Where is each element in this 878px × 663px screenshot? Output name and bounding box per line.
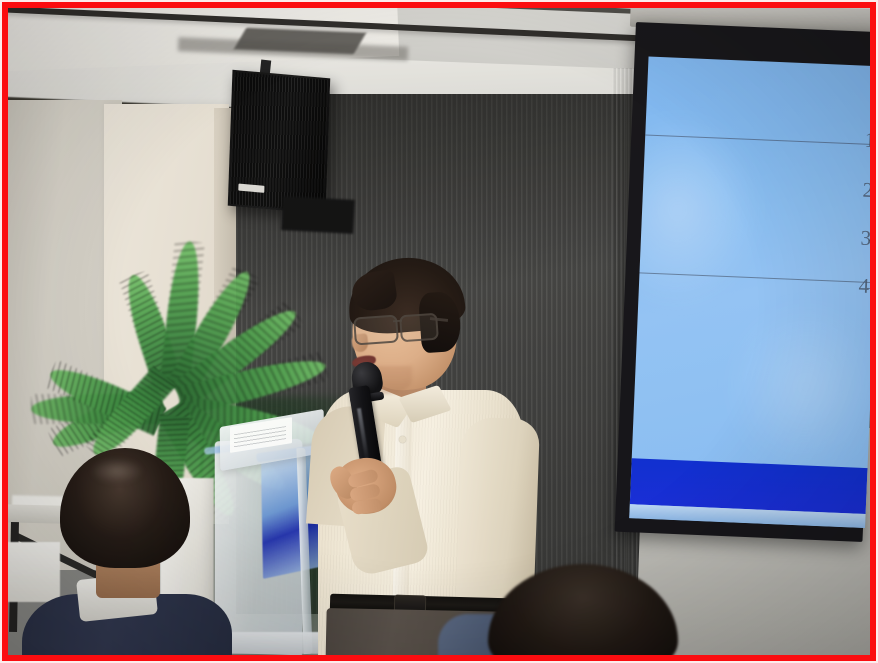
slide-highlight-2 [726,301,870,474]
slide-item-number-1: 1 [864,128,870,153]
slide-highlight-1 [629,110,764,311]
presentation-slide: 1 2 3 4 [629,57,870,528]
photo-frame: 1 2 3 4 [0,0,878,663]
shirt-button [399,436,406,443]
conference-room-photo: 1 2 3 4 [8,8,870,655]
slide-item-number-4: 4 [858,274,870,299]
attendee-hair-highlight [90,458,144,484]
slide-item-number-3: 3 [860,226,870,251]
attendee-front-center [478,564,688,655]
wall-speaker [228,70,331,214]
eyeglasses-left-lens-icon [353,314,399,345]
slide-item-number-2: 2 [862,178,870,203]
attendee-front-left [32,448,222,655]
projection-screen: 1 2 3 4 [615,22,870,542]
podium-notes-text-lines [234,426,286,448]
attendee-hair [488,564,678,655]
